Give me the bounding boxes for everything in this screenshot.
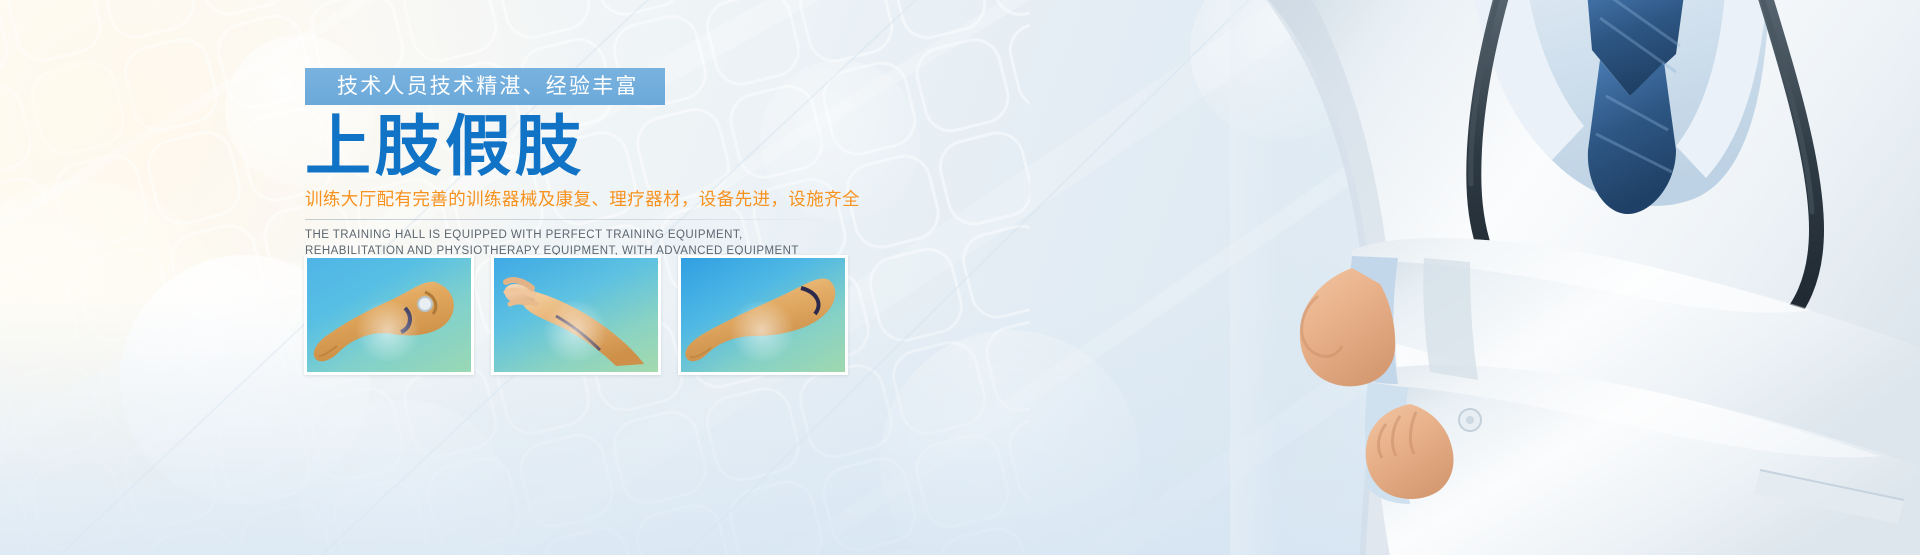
product-photo-1[interactable] bbox=[304, 255, 474, 375]
bokeh-circle bbox=[300, 400, 510, 555]
banner-headline: 上肢假肢 bbox=[305, 109, 925, 185]
banner-subline: 训练大厅配有完善的训练器械及康复、理疗器材，设备先进，设施齐全 bbox=[305, 188, 925, 212]
text-divider bbox=[305, 219, 825, 220]
doctor-figure bbox=[1000, 0, 1920, 555]
prosthetic-arm-hand-image bbox=[494, 258, 658, 372]
banner-content: 技术人员技术精湛、经验丰富 上肢假肢 训练大厅配有完善的训练器械及康复、理疗器材… bbox=[305, 68, 925, 275]
bokeh-circle bbox=[24, 60, 144, 180]
product-photo-2[interactable] bbox=[491, 255, 661, 375]
bokeh-circle bbox=[0, 180, 230, 480]
prosthetic-sleeve-image bbox=[681, 258, 845, 372]
product-photo-strip bbox=[304, 255, 848, 375]
prosthetic-forearm-image bbox=[307, 258, 471, 372]
banner-tagline-box: 技术人员技术精湛、经验丰富 bbox=[305, 68, 665, 105]
hero-banner: 技术人员技术精湛、经验丰富 上肢假肢 训练大厅配有完善的训练器械及康复、理疗器材… bbox=[0, 0, 1920, 555]
product-photo-3[interactable] bbox=[678, 255, 848, 375]
